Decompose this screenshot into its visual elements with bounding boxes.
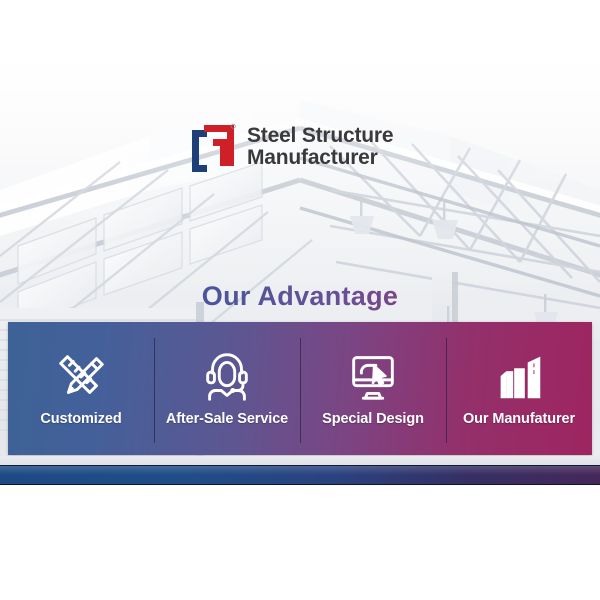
advantage-label: After-Sale Service (166, 411, 288, 427)
factory-buildings-icon (488, 347, 550, 405)
headset-support-icon (196, 347, 258, 405)
brand-name-line2: Manufacturer (247, 147, 393, 169)
steel-bracket-logo-icon (190, 122, 236, 172)
advantage-item-our-manufacturer[interactable]: Our Manufaturer (446, 322, 592, 455)
advantage-label: Our Manufaturer (463, 411, 575, 427)
section-title: Our Advantage (0, 281, 600, 312)
pencil-ruler-icon (50, 347, 112, 405)
advantage-bar: Customized Aft (8, 322, 592, 455)
advantage-item-customized[interactable]: Customized (8, 322, 154, 455)
banner-stage: Steel Structure Manufacturer Our Advanta… (0, 0, 600, 600)
advantage-label: Special Design (322, 411, 424, 427)
brand-wordmark: Steel Structure Manufacturer (247, 125, 393, 170)
brand-logo: Steel Structure Manufacturer (190, 122, 393, 172)
accent-bar (0, 465, 600, 485)
bar-seam (0, 456, 600, 465)
brand-name-line1: Steel Structure (247, 124, 393, 147)
advantage-item-after-sale-service[interactable]: After-Sale Service (154, 322, 300, 455)
monitor-cursor-icon (342, 347, 404, 405)
advantage-label: Customized (40, 411, 121, 427)
advantage-item-special-design[interactable]: Special Design (300, 322, 446, 455)
